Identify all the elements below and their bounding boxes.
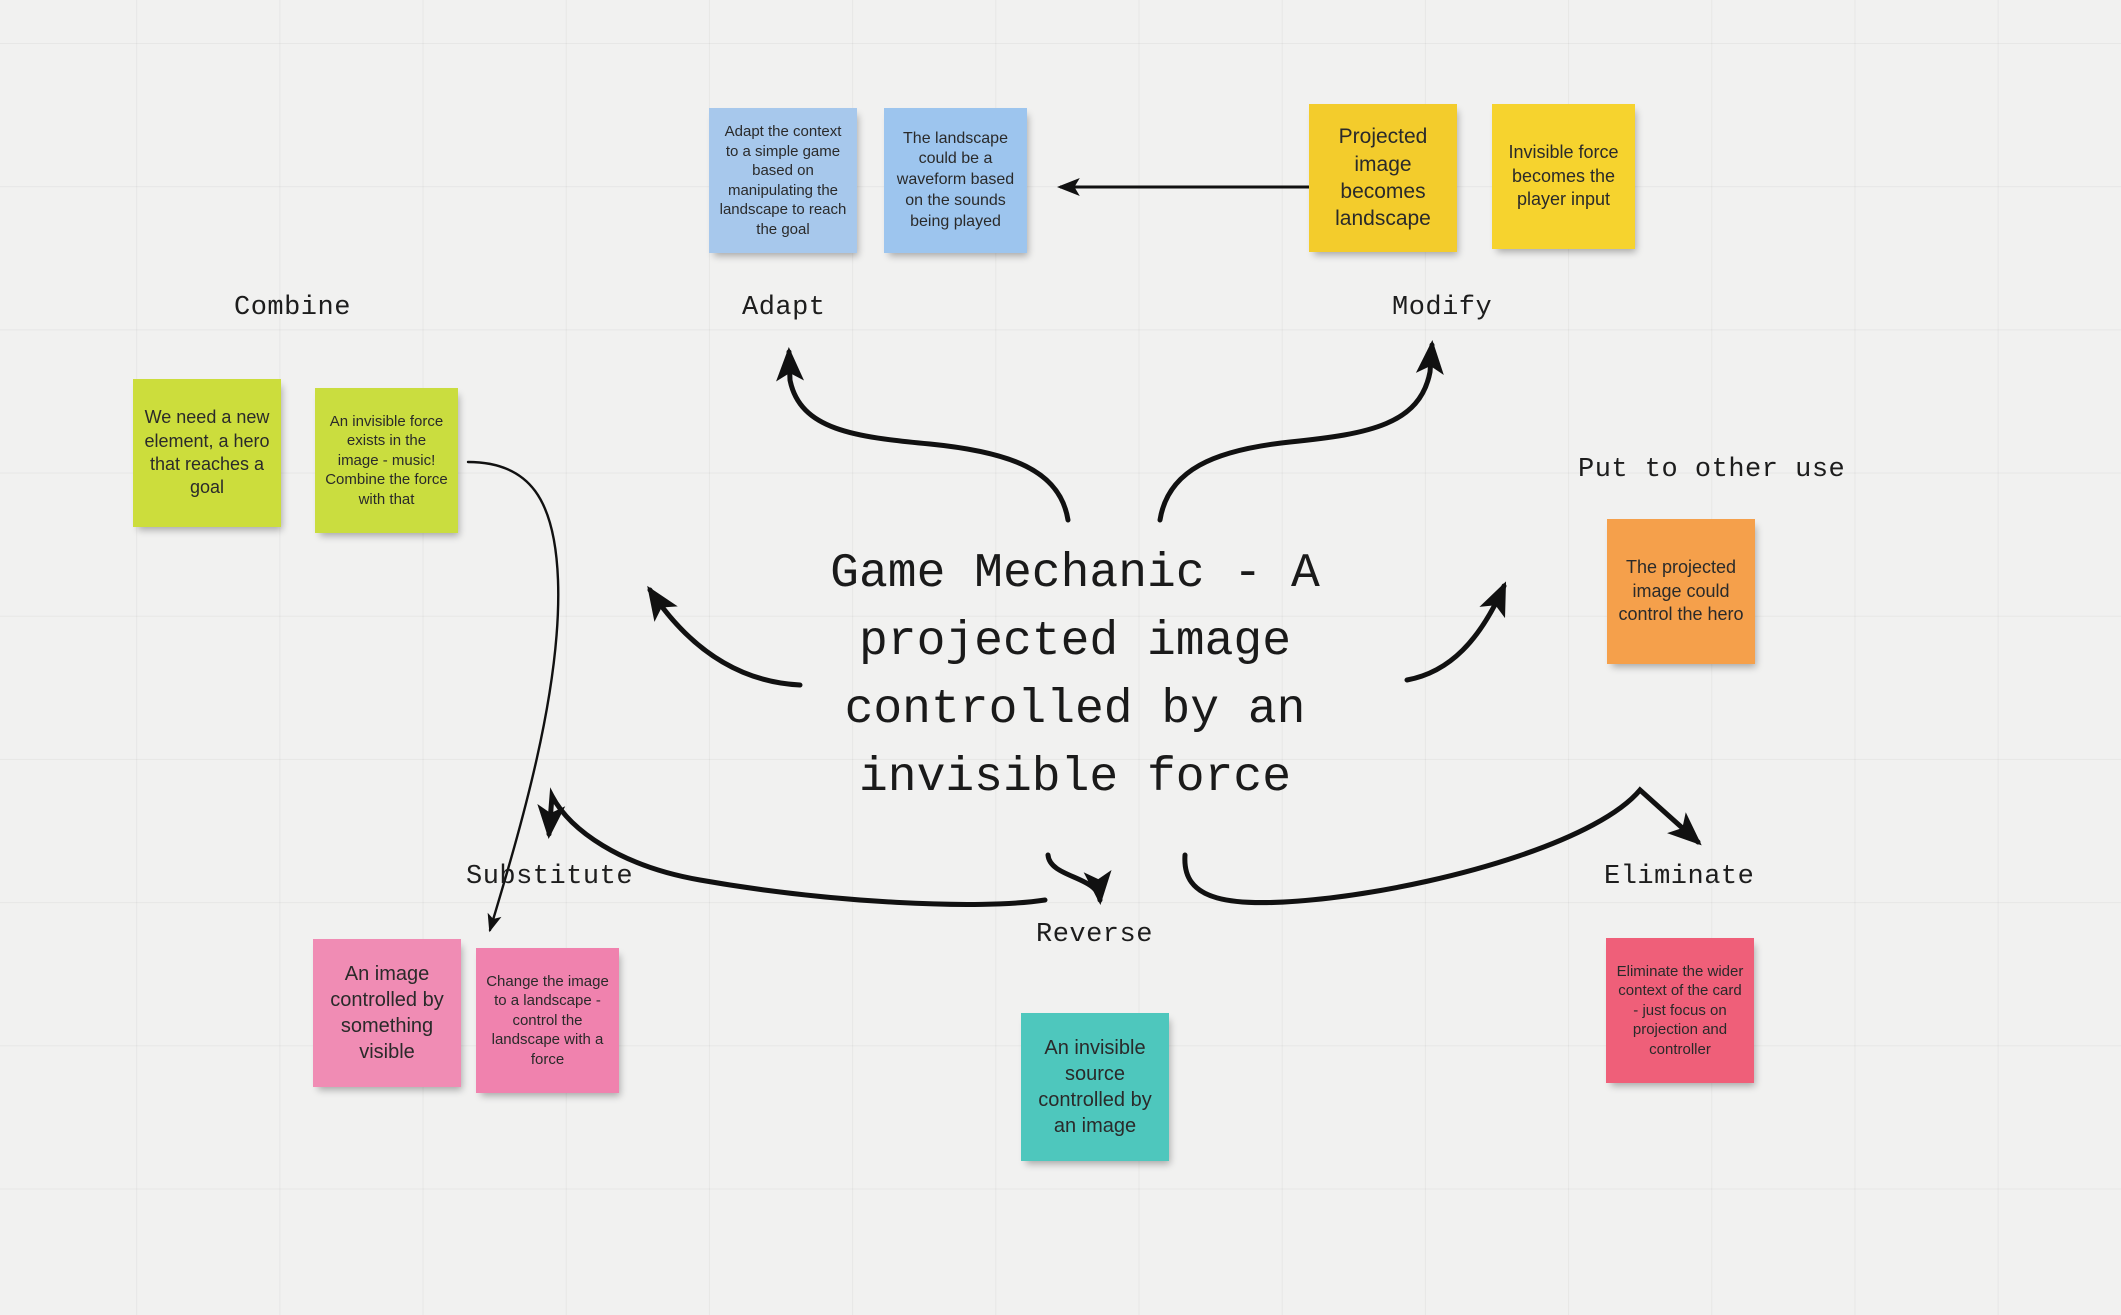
arrow-center-to-combine xyxy=(650,590,800,685)
sticky-note-text: Adapt the context to a simple game based… xyxy=(719,122,847,239)
sticky-note-modify-1[interactable]: Projected image becomes landscape xyxy=(1309,104,1457,252)
sticky-note-text: The landscape could be a waveform based … xyxy=(894,129,1017,233)
sticky-note-substitute-1[interactable]: An image controlled by something visible xyxy=(313,939,461,1087)
category-label-adapt: Adapt xyxy=(742,293,826,323)
sticky-note-substitute-2[interactable]: Change the image to a landscape - contro… xyxy=(476,948,619,1093)
sticky-note-eliminate-1[interactable]: Eliminate the wider context of the card … xyxy=(1606,938,1754,1083)
arrow-center-to-reverse xyxy=(1048,855,1100,900)
sticky-note-text: Change the image to a landscape - contro… xyxy=(486,972,609,1070)
sticky-note-adapt-2[interactable]: The landscape could be a waveform based … xyxy=(884,108,1027,253)
sticky-note-adapt-1[interactable]: Adapt the context to a simple game based… xyxy=(709,108,857,253)
category-label-reverse: Reverse xyxy=(1036,920,1153,950)
category-label-modify: Modify xyxy=(1392,293,1492,323)
category-label-substitute: Substitute xyxy=(466,862,633,892)
category-label-combine: Combine xyxy=(234,293,351,323)
sticky-note-text: An invisible force exists in the image -… xyxy=(325,412,448,510)
sticky-note-text: We need a new element, a hero that reach… xyxy=(143,406,271,500)
sticky-note-text: The projected image could control the he… xyxy=(1617,556,1745,626)
sticky-note-modify-2[interactable]: Invisible force becomes the player input xyxy=(1492,104,1635,249)
sticky-note-combine-2[interactable]: An invisible force exists in the image -… xyxy=(315,388,458,533)
sticky-note-combine-1[interactable]: We need a new element, a hero that reach… xyxy=(133,379,281,527)
sticky-note-text: An image controlled by something visible xyxy=(323,961,451,1065)
category-label-put-to-other-use: Put to other use xyxy=(1578,455,1845,485)
sticky-note-put-to-other-use-1[interactable]: The projected image could control the he… xyxy=(1607,519,1755,664)
sticky-note-text: An invisible source controlled by an ima… xyxy=(1031,1035,1159,1139)
arrow-center-to-adapt xyxy=(789,352,1068,520)
whiteboard-canvas[interactable]: Combine Adapt Modify Put to other use Su… xyxy=(0,0,2121,1315)
sticky-note-reverse-1[interactable]: An invisible source controlled by an ima… xyxy=(1021,1013,1169,1161)
category-label-eliminate: Eliminate xyxy=(1604,862,1754,892)
sticky-note-text: Invisible force becomes the player input xyxy=(1502,141,1625,211)
arrow-center-to-modify xyxy=(1160,345,1432,520)
arrow-center-to-put xyxy=(1407,586,1504,680)
sticky-note-text: Eliminate the wider context of the card … xyxy=(1616,962,1744,1060)
arrow-combine2-to-sub2 xyxy=(468,462,558,930)
page-title: Game Mechanic - A projected image contro… xyxy=(790,540,1360,813)
sticky-note-text: Projected image becomes landscape xyxy=(1319,123,1447,232)
